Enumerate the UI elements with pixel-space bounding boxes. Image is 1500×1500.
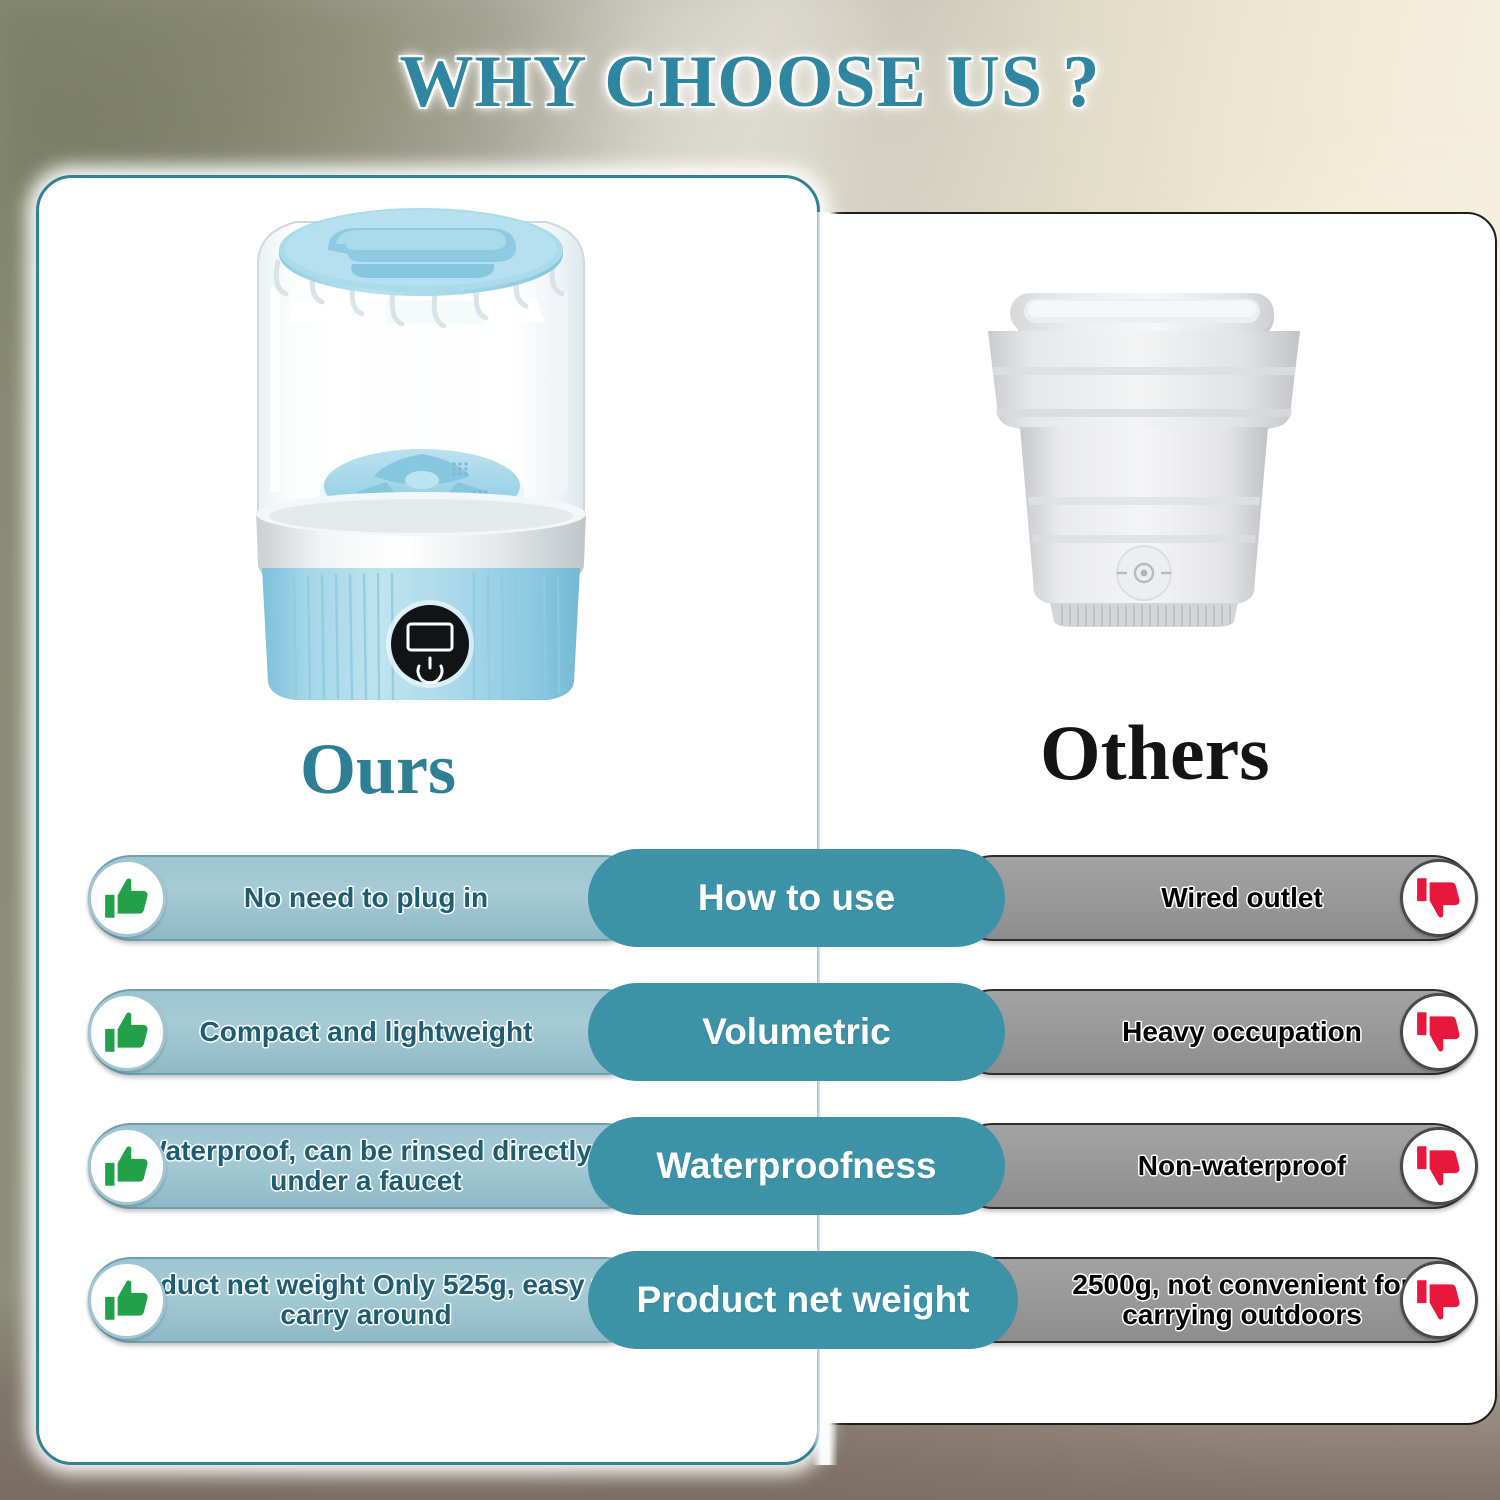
ours-value-text: No need to plug in [90,883,646,913]
others-value-text: 2500g, not convenient for carrying outdo… [952,1270,1474,1329]
feature-label: Waterproofness [656,1145,936,1187]
feature-pill: Volumetric [588,983,1005,1081]
others-label: Others [1040,708,1270,798]
thumbs-down-icon [1400,993,1478,1071]
feature-pill: Product net weight [588,1251,1018,1349]
ours-value-pill: No need to plug in [88,855,648,941]
ours-value-pill: Compact and lightweight [88,989,648,1075]
feature-label: Product net weight [637,1279,970,1321]
others-value-text: Heavy occupation [952,1017,1474,1047]
thumbs-down-icon [1400,859,1478,937]
page-title: WHY CHOOSE US ? [0,40,1500,125]
feature-pill: Waterproofness [588,1117,1005,1215]
thumbs-down-icon [1400,1127,1478,1205]
ours-value-text: Product net weight Only 525g, easy to ca… [90,1270,646,1329]
thumbs-up-icon [88,1127,166,1205]
others-value-text: Non-waterproof [952,1151,1474,1181]
feature-label: How to use [698,877,895,919]
others-value-pill: Wired outlet [950,855,1476,941]
others-value-pill: 2500g, not convenient for carrying outdo… [950,1257,1476,1343]
others-product-image [958,285,1330,635]
ours-value-text: Compact and lightweight [90,1017,646,1047]
thumbs-down-icon [1400,1261,1478,1339]
thumbs-up-icon [88,1261,166,1339]
ours-value-text: Waterproof, can be rinsed directly under… [90,1136,646,1195]
control-panel [391,605,469,683]
thumbs-up-icon [88,859,166,937]
feature-pill: How to use [588,849,1005,947]
others-value-pill: Non-waterproof [950,1123,1476,1209]
feature-label: Volumetric [702,1011,890,1053]
ours-value-pill: Waterproof, can be rinsed directly under… [88,1123,648,1209]
comparison-rows: No need to plug in Wired outlet How to u… [0,855,1500,1343]
others-value-text: Wired outlet [952,883,1474,913]
infographic-canvas: WHY CHOOSE US ? [0,0,1500,1500]
ours-product-image [236,192,606,702]
others-value-pill: Heavy occupation [950,989,1476,1075]
comparison-row: Product net weight Only 525g, easy to ca… [0,1257,1500,1343]
comparison-row: Compact and lightweight Heavy occupation… [0,989,1500,1075]
comparison-row: No need to plug in Wired outlet How to u… [0,855,1500,941]
ours-value-pill: Product net weight Only 525g, easy to ca… [88,1257,648,1343]
comparison-row: Waterproof, can be rinsed directly under… [0,1123,1500,1209]
ours-label: Ours [300,728,456,811]
thumbs-up-icon [88,993,166,1071]
